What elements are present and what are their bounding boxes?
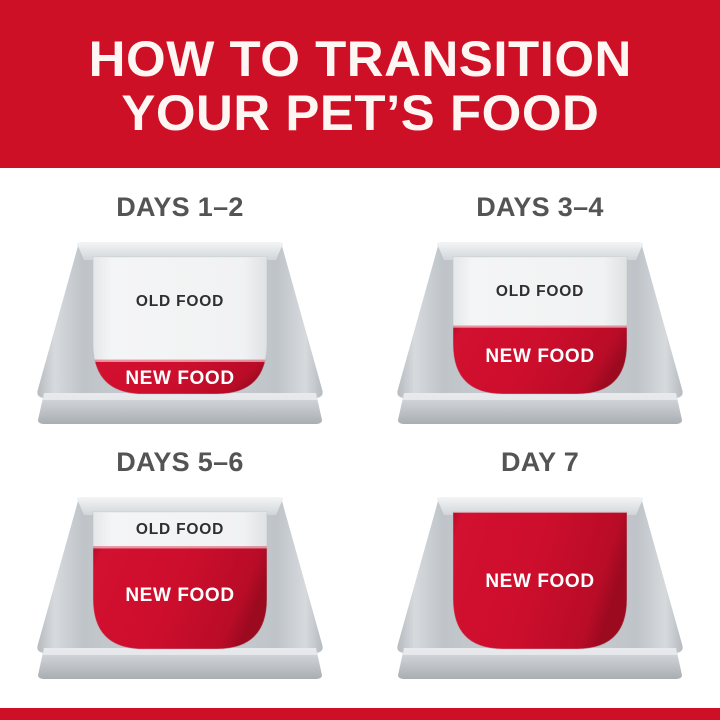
bowl-cavity	[450, 254, 630, 400]
new-food-label: NEW FOOD	[485, 571, 594, 592]
step-label: DAYS 1–2	[0, 192, 360, 223]
new-food-label: NEW FOOD	[125, 585, 234, 606]
footer-accent-bar	[0, 708, 720, 720]
food-boundary-line	[90, 546, 270, 548]
bowl-svg: OLD FOOD NEW FOOD	[30, 489, 330, 689]
transition-step-panel: DAYS 1–2	[0, 186, 360, 441]
bowl-svg: NEW FOOD	[390, 489, 690, 689]
bowl-svg: OLD FOOD NEW FOOD	[30, 234, 330, 434]
transition-step-panel: DAYS 3–4	[360, 186, 720, 441]
bowl-illustration: OLD FOOD NEW FOOD	[390, 234, 690, 434]
bowl-illustration: NEW FOOD	[390, 489, 690, 689]
bowl-illustration: OLD FOOD NEW FOOD	[30, 489, 330, 689]
panel-grid: DAYS 1–2	[0, 168, 720, 708]
new-food-label: NEW FOOD	[125, 368, 234, 389]
step-label: DAYS 3–4	[360, 192, 720, 223]
page-title-line-1: HOW TO TRANSITION	[88, 32, 631, 86]
transition-step-panel: DAYS 5–6	[0, 441, 360, 696]
new-food-label: NEW FOOD	[485, 346, 594, 367]
step-label: DAY 7	[360, 447, 720, 478]
transition-step-panel: DAY 7	[360, 441, 720, 696]
infographic-page: HOW TO TRANSITION YOUR PET’S FOOD DAYS 1…	[0, 0, 720, 720]
step-label: DAYS 5–6	[0, 447, 360, 478]
old-food-label: OLD FOOD	[136, 293, 224, 310]
page-title-line-2: YOUR PET’S FOOD	[121, 86, 599, 140]
old-food-label: OLD FOOD	[496, 283, 584, 300]
food-boundary-line	[90, 360, 270, 362]
bowl-svg: OLD FOOD NEW FOOD	[390, 234, 690, 434]
old-food-label: OLD FOOD	[136, 521, 224, 538]
food-boundary-line	[450, 326, 630, 328]
header-banner: HOW TO TRANSITION YOUR PET’S FOOD	[0, 0, 720, 168]
bowl-illustration: OLD FOOD NEW FOOD	[30, 234, 330, 434]
